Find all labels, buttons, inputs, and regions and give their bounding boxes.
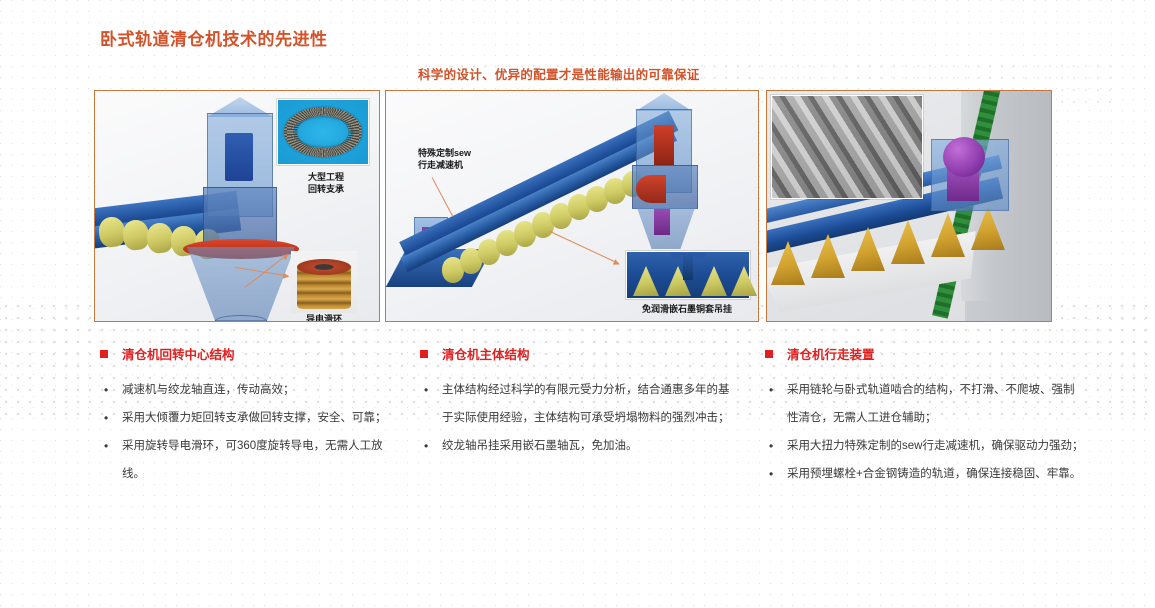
bullet-square-icon	[420, 350, 428, 358]
bullet-list-2: 主体结构经过科学的有限元受力分析，结合通惠多年的基于实际使用经验，主体结构可承受…	[420, 376, 740, 460]
cone-base-ellipse	[215, 315, 267, 322]
text-column-main-body: 清仓机主体结构 主体结构经过科学的有限元受力分析，结合通惠多年的基于实际使用经验…	[420, 344, 740, 460]
bullet-list-3: 采用链轮与卧式轨道啮合的结构，不打滑、不爬坡、强制性清仓，无需人工进仓辅助； 采…	[765, 376, 1085, 488]
bullet-square-icon	[765, 350, 773, 358]
rotary-center-body	[203, 187, 277, 245]
image-panel-travel-device	[766, 90, 1052, 322]
text-column-rotary-center: 清仓机回转中心结构 减速机与绞龙轴直连，传动高效； 采用大倾覆力矩回转支承做回转…	[100, 344, 400, 488]
drive-motor	[225, 133, 253, 181]
list-item: 采用大倾覆力矩回转支承做回转支撑，安全、可靠；	[100, 404, 400, 432]
column-heading-2: 清仓机主体结构	[420, 344, 740, 363]
cad-render-rotary-center: 大型工程 回转支承 导电滑环	[95, 91, 379, 321]
callout-label-slewing-bearing: 大型工程 回转支承	[291, 171, 361, 195]
callout-leader-sew-reducer	[431, 177, 453, 216]
callout-line-1: 特殊定制sew	[418, 147, 510, 159]
slide-root: 卧式轨道清仓机技术的先进性 科学的设计、优异的配置才是性能输出的可靠保证	[0, 0, 1155, 608]
callout-label-graphite-bushing: 免润滑嵌石墨铜套吊挂	[624, 303, 750, 315]
column-heading-1: 清仓机回转中心结构	[100, 344, 400, 363]
discharge-cone	[187, 247, 295, 321]
callout-label-slip-ring: 导电滑环	[291, 313, 357, 322]
list-item: 绞龙轴吊挂采用嵌石墨轴瓦，免加油。	[420, 432, 740, 460]
auger-flight-detail	[701, 266, 727, 296]
list-item: 采用链轮与卧式轨道啮合的结构，不打滑、不爬坡、强制性清仓，无需人工进仓辅助；	[765, 376, 1085, 432]
list-item: 减速机与绞龙轴直连，传动高效；	[100, 376, 400, 404]
bullet-list-1: 减速机与绞龙轴直连，传动高效； 采用大倾覆力矩回转支承做回转支撑，安全、可靠； …	[100, 376, 400, 488]
column-heading-3: 清仓机行走装置	[765, 344, 1085, 363]
slewing-bearing-ring	[636, 175, 666, 203]
bullet-square-icon	[100, 350, 108, 358]
reducer-unit	[654, 209, 670, 235]
callout-leader-graphite-bushing	[550, 231, 619, 264]
callout-line-2: 行走减速机	[418, 159, 510, 171]
callout-label-sew-reducer: 特殊定制sew 行走减速机	[418, 147, 510, 171]
inset-detail-graphite-bushing	[626, 251, 750, 299]
list-item: 采用大扭力特殊定制的sew行走减速机，确保驱动力强劲；	[765, 432, 1085, 460]
column-heading-text: 清仓机行走装置	[787, 344, 875, 363]
image-panel-main-body: 特殊定制sew 行走减速机 免润滑嵌石墨铜套吊挂	[385, 90, 759, 322]
image-panel-rotary-center: 大型工程 回转支承 导电滑环	[94, 90, 380, 322]
inset-photo-cast-track-segments	[771, 95, 923, 199]
inset-photo-slewing-bearing	[277, 99, 369, 165]
auger-flight-detail	[633, 266, 659, 296]
inset-photo-slip-ring	[291, 251, 357, 313]
cad-render-travel-device	[767, 91, 1051, 321]
callout-line-2: 回转支承	[291, 183, 361, 195]
column-heading-text: 清仓机回转中心结构	[122, 344, 235, 363]
cad-render-main-body: 特殊定制sew 行走减速机 免润滑嵌石墨铜套吊挂	[386, 91, 758, 321]
slip-ring-top	[297, 259, 351, 275]
list-item: 采用预埋螺栓+合金钢铸造的轨道，确保连接稳固、牢靠。	[765, 460, 1085, 488]
hanger-post	[683, 254, 693, 280]
column-heading-text: 清仓机主体结构	[442, 344, 530, 363]
bearing-teeth-shape	[284, 107, 362, 157]
page-title: 卧式轨道清仓机技术的先进性	[100, 25, 328, 50]
page-subtitle: 科学的设计、优异的配置才是性能输出的可靠保证	[418, 64, 700, 83]
list-item: 采用旋转导电滑环，可360度旋转导电，无需人工放线。	[100, 432, 400, 488]
sew-reducer-motor	[943, 137, 985, 177]
list-item: 主体结构经过科学的有限元受力分析，结合通惠多年的基于实际使用经验，主体结构可承受…	[420, 376, 740, 432]
drive-motor	[654, 125, 674, 165]
auger-flight-detail	[731, 266, 757, 296]
text-column-travel-device: 清仓机行走装置 采用链轮与卧式轨道啮合的结构，不打滑、不爬坡、强制性清仓，无需人…	[765, 344, 1085, 488]
callout-line-1: 大型工程	[291, 171, 361, 183]
